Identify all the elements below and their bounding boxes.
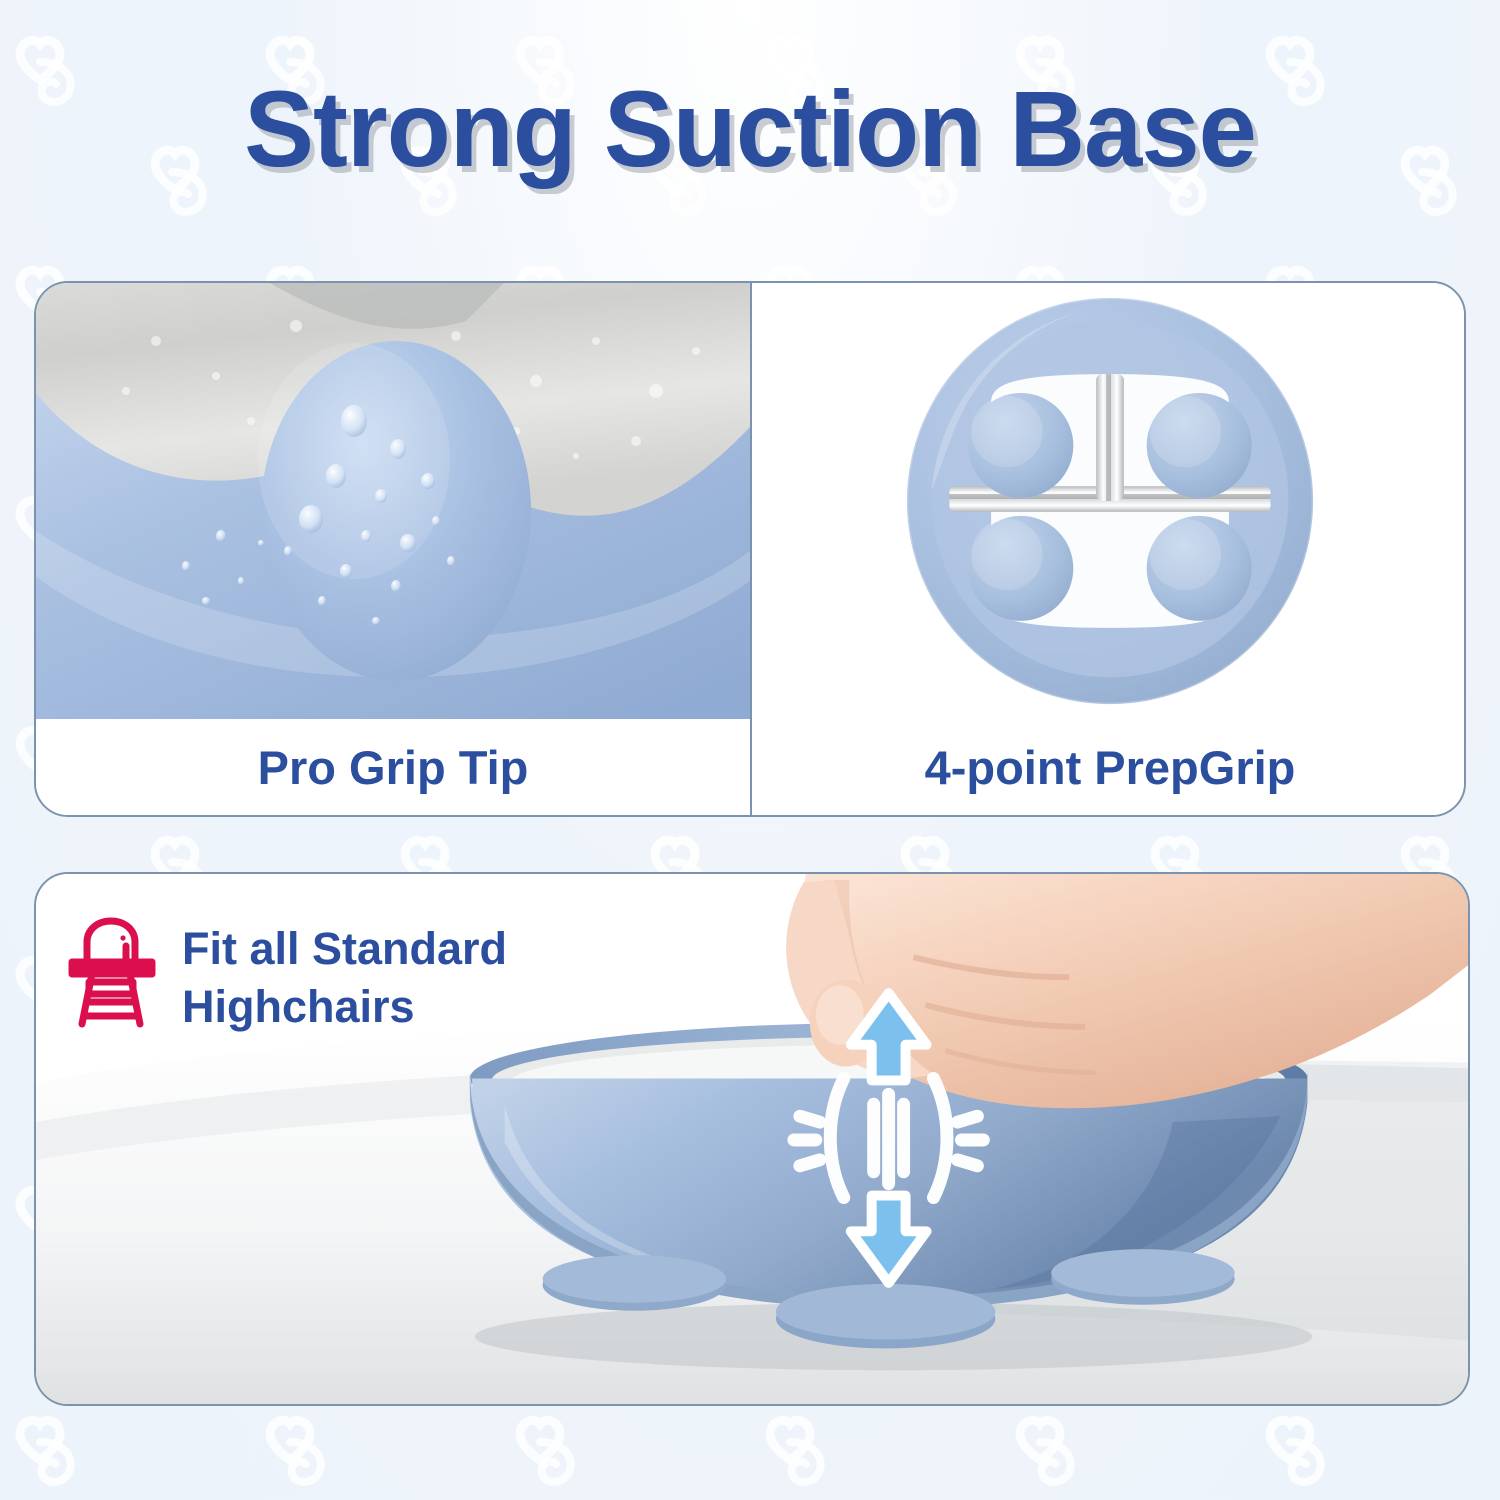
panel-cell-pro-grip-tip: Pro Grip Tip <box>36 283 750 815</box>
fit-highchairs-feature: Fit all Standard Highchairs <box>68 916 507 1035</box>
top-feature-panel: Pro Grip Tip <box>34 281 1466 817</box>
page-title: Strong Suction Base <box>23 72 1478 185</box>
four-point-suction-base-photo <box>752 283 1466 719</box>
highchair-icon <box>68 916 156 1028</box>
macro-wet-suction-tab-photo <box>36 283 750 719</box>
caption-four-point-prepgrip: 4-point PrepGrip <box>752 719 1466 815</box>
caption-pro-grip-tip: Pro Grip Tip <box>36 719 750 815</box>
fit-highchairs-label: Fit all Standard Highchairs <box>182 916 507 1035</box>
bottom-feature-panel: Fit all Standard Highchairs <box>34 872 1470 1406</box>
panel-cell-four-point-prepgrip: 4-point PrepGrip <box>752 283 1466 815</box>
